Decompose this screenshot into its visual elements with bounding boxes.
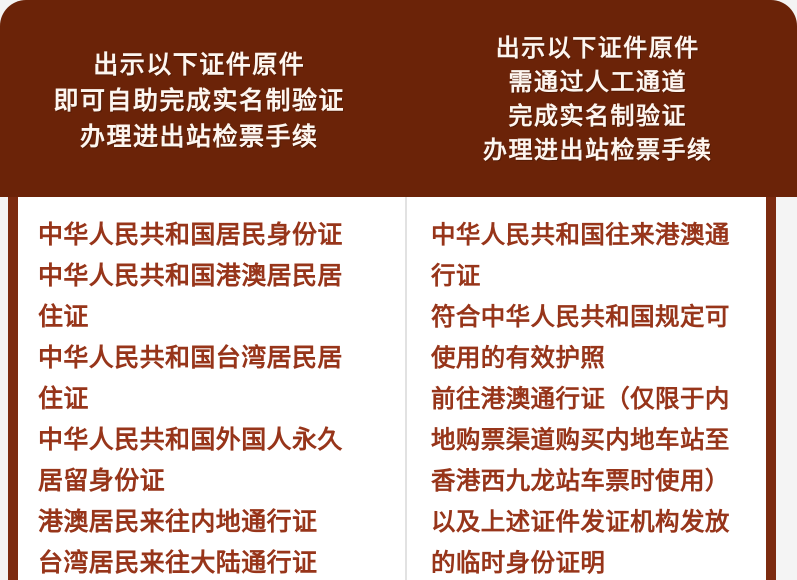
body-right-line-8: 以及上述证件发证机构发放 (431, 502, 762, 543)
body-right-line-2: 行证 (431, 256, 762, 297)
body-left-line-5: 住证 (38, 379, 399, 420)
body-left-line-3: 住证 (38, 297, 399, 338)
body-right-line-4: 使用的有效护照 (431, 338, 762, 379)
body-column-right: 中华人民共和国往来港澳通 行证 符合中华人民共和国规定可 使用的有效护照 前往港… (407, 197, 766, 580)
header-right-line-3: 完成实名制验证 (509, 100, 688, 134)
body-left-line-4: 中华人民共和国台湾居民居 (38, 338, 399, 379)
body-left-line-2: 中华人民共和国港澳居民居 (38, 256, 399, 297)
body-right-line-9: 的临时身份证明 (431, 543, 762, 580)
header-left-line-1: 出示以下证件原件 (93, 47, 305, 83)
header-right-line-2: 需通过人工通道 (509, 66, 688, 100)
poster-container: 出示以下证件原件 即可自助完成实名制验证 办理进出站检票手续 出示以下证件原件 … (0, 0, 797, 580)
body-left-line-9: 台湾居民来往大陆通行证 (38, 543, 399, 580)
header-right-line-1: 出示以下证件原件 (496, 32, 700, 66)
body-left-line-1: 中华人民共和国居民身份证 (38, 215, 399, 256)
body-inner-frame: 中华人民共和国居民身份证 中华人民共和国港澳居民居 住证 中华人民共和国台湾居民… (8, 197, 776, 580)
body-band: 中华人民共和国居民身份证 中华人民共和国港澳居民居 住证 中华人民共和国台湾居民… (0, 197, 797, 580)
body-right-line-3: 符合中华人民共和国规定可 (431, 297, 762, 338)
header-left-line-2: 即可自助完成实名制验证 (53, 83, 345, 119)
body-right-line-6: 地购票渠道购买内地车站至 (431, 420, 762, 461)
header-right-line-4: 办理进出站检票手续 (483, 134, 713, 168)
body-left-line-6: 中华人民共和国外国人永久 (38, 420, 399, 461)
header-column-right: 出示以下证件原件 需通过人工通道 完成实名制验证 办理进出站检票手续 (399, 0, 797, 197)
body-right-line-5: 前往港澳通行证（仅限于内 (431, 379, 762, 420)
header-band: 出示以下证件原件 即可自助完成实名制验证 办理进出站检票手续 出示以下证件原件 … (0, 0, 797, 197)
body-left-line-8: 港澳居民来往内地通行证 (38, 502, 399, 543)
body-right-line-7: 香港西九龙站车票时使用） (431, 461, 762, 502)
header-column-left: 出示以下证件原件 即可自助完成实名制验证 办理进出站检票手续 (0, 0, 399, 197)
body-left-line-7: 居留身份证 (38, 461, 399, 502)
header-left-line-3: 办理进出站检票手续 (80, 119, 319, 155)
body-right-line-1: 中华人民共和国往来港澳通 (431, 215, 762, 256)
body-column-left: 中华人民共和国居民身份证 中华人民共和国港澳居民居 住证 中华人民共和国台湾居民… (18, 197, 405, 580)
